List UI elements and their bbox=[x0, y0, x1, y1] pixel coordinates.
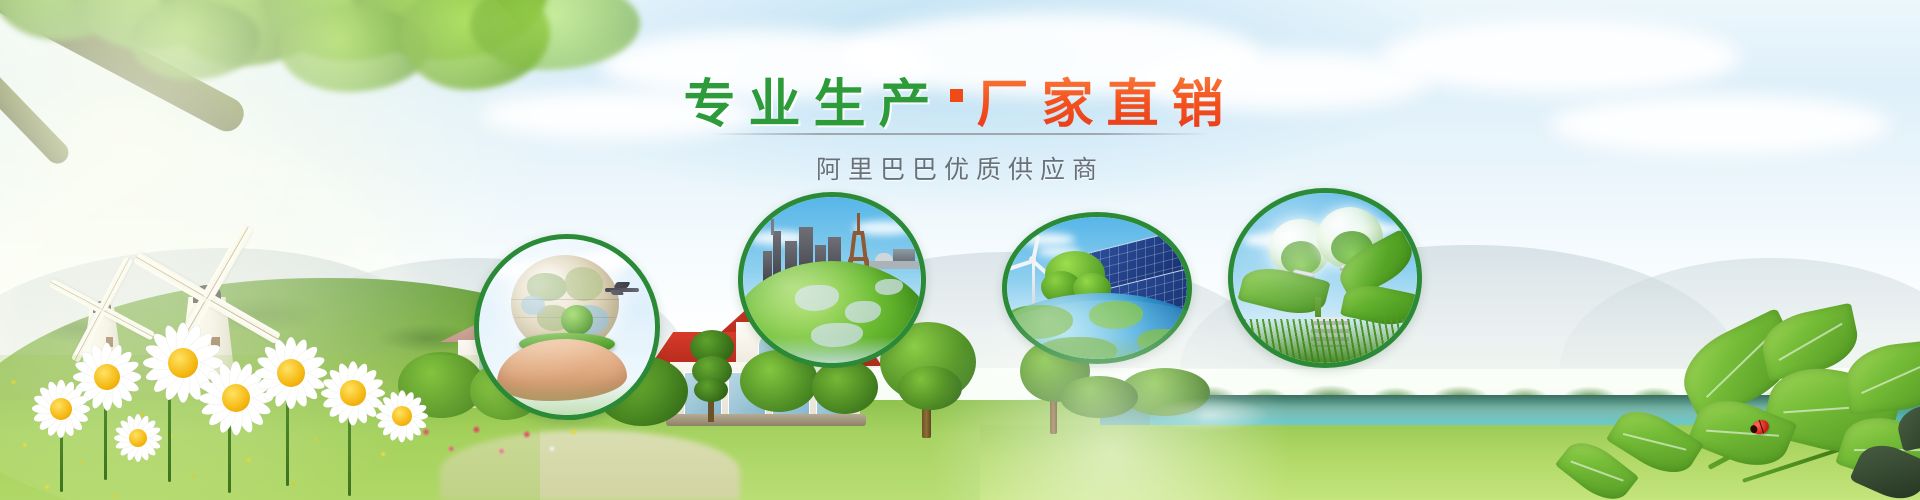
headline-divider bbox=[710, 133, 1210, 135]
cloud bbox=[1380, 20, 1740, 94]
tree-canopy bbox=[0, 0, 540, 150]
badge-hand-globe[interactable] bbox=[474, 234, 660, 420]
garden-flowers bbox=[408, 414, 588, 474]
subtitle: 阿里巴巴优质供应商 bbox=[0, 150, 1920, 186]
daisy-flower bbox=[112, 412, 164, 464]
daisy-flower bbox=[30, 378, 92, 440]
daisy-center bbox=[277, 359, 305, 387]
shrub bbox=[812, 360, 878, 414]
daisy-center bbox=[340, 380, 365, 405]
badge-eco-bulb[interactable] bbox=[1228, 188, 1422, 368]
badge-green-earth-city[interactable] bbox=[738, 192, 926, 368]
promotional-banner: 专业生产厂家直销 阿里巴巴优质供应商 bbox=[0, 0, 1920, 500]
cloud bbox=[1550, 95, 1890, 155]
